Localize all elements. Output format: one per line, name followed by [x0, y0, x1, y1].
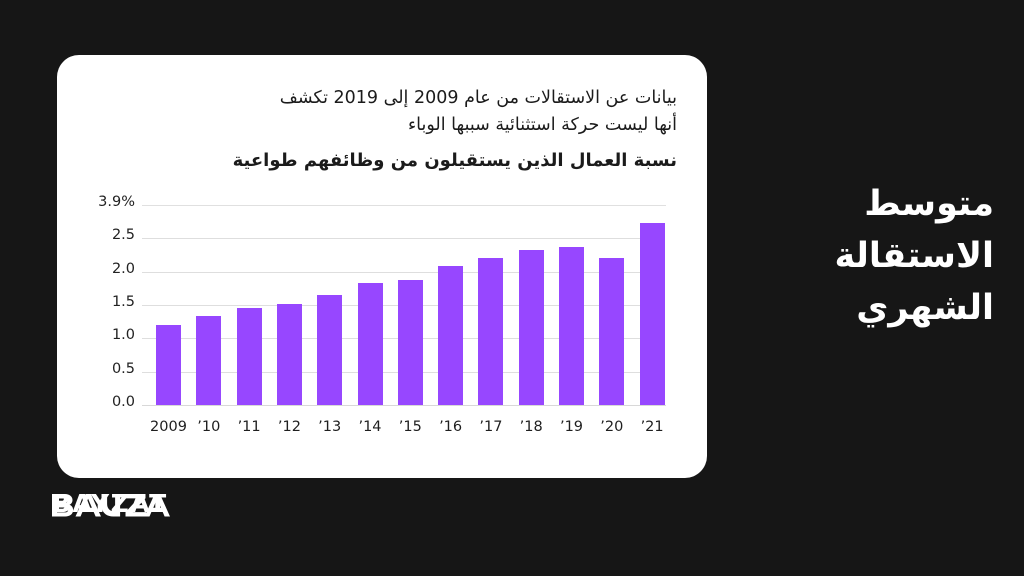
x-axis-tick-label: ’16: [439, 420, 462, 435]
bar-’16: [438, 266, 463, 405]
bar-’20: [599, 258, 624, 405]
bar-’18: [519, 250, 544, 405]
x-axis-tick-label: ’20: [600, 420, 623, 435]
chart-bars: 2009’10’11’12’13’14’15’16’17’18’19’20’21: [142, 205, 666, 405]
bar-’17: [478, 258, 503, 405]
chart-card: بيانات عن الاستقالات من عام 2009 إلى 201…: [57, 55, 707, 478]
bar-’21: [640, 223, 665, 405]
bar-’10: [196, 316, 221, 405]
headline-line-3: الشهري: [744, 282, 994, 334]
x-axis-tick-label: ’19: [560, 420, 583, 435]
y-axis-tick-label: 1.5: [112, 295, 135, 310]
bar-2009: [156, 325, 181, 405]
bayzat-wordmark: BAYZAT: [52, 489, 168, 518]
x-axis-tick-label: ’14: [358, 420, 381, 435]
headline-line-2: الاستقالة: [744, 230, 994, 282]
bar-’13: [317, 295, 342, 405]
y-axis-tick-label: 0.0: [112, 395, 135, 410]
headline-line-1: متوسط: [744, 178, 994, 230]
bar-’11: [237, 308, 262, 405]
gridline-0.0: 0.0: [142, 405, 666, 406]
y-axis-tick-label: 0.5: [112, 362, 135, 377]
x-axis-tick-label: ’12: [278, 420, 301, 435]
x-axis-tick-label: ’10: [197, 420, 220, 435]
x-axis-tick-label: ’18: [520, 420, 543, 435]
y-axis-tick-label: 3.9%: [98, 195, 135, 210]
x-axis-tick-label: ’11: [238, 420, 261, 435]
bar-chart: 3.9%2.52.01.51.00.50.0 2009’10’11’12’13’…: [57, 55, 707, 478]
bayzat-logo: BAYZAT: [52, 489, 170, 523]
bar-’12: [277, 304, 302, 405]
right-headline: متوسطالاستقالةالشهري: [744, 178, 994, 334]
y-axis-tick-label: 2.0: [112, 262, 135, 277]
bar-’19: [559, 247, 584, 405]
y-axis-tick-label: 2.5: [112, 228, 135, 243]
y-axis-tick-label: 1.0: [112, 328, 135, 343]
x-axis-tick-label: ’15: [399, 420, 422, 435]
x-axis-tick-label: 2009: [150, 420, 187, 435]
x-axis-tick-label: ’21: [641, 420, 664, 435]
bar-’15: [398, 280, 423, 405]
x-axis-tick-label: ’13: [318, 420, 341, 435]
bar-’14: [358, 283, 383, 405]
x-axis-tick-label: ’17: [479, 420, 502, 435]
